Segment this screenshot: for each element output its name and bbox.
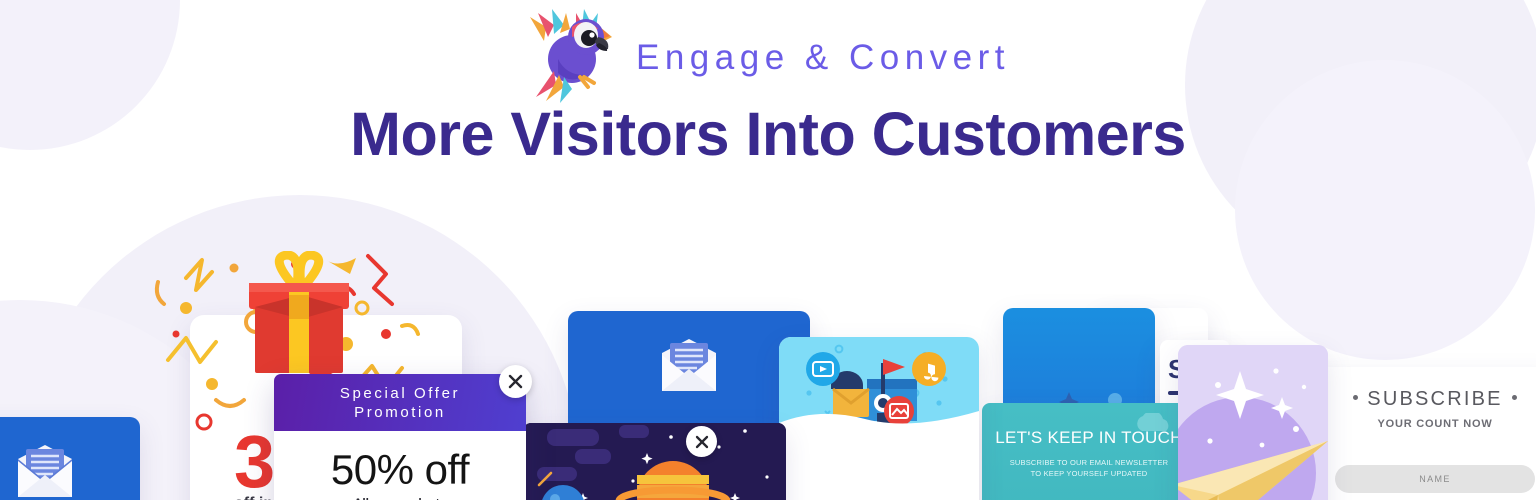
brand-row: Engage & Convert [0, 0, 1536, 110]
popup-card-special-offer[interactable]: Special Offer Promotion 50% off All our … [274, 374, 526, 500]
paper-plane-illustration [1178, 345, 1328, 500]
bullet-dot-left-icon [1353, 395, 1358, 400]
hero-header: Engage & Convert More Visitors Into Cust… [0, 0, 1536, 165]
final-subscribe-title-text: SUBSCRIBE [1367, 388, 1502, 410]
envelope-icon [10, 443, 80, 500]
special-offer-title-line2: Promotion [354, 403, 446, 422]
popup-card-space[interactable] [523, 423, 786, 500]
bullet-dot-right-icon [1512, 395, 1517, 400]
cloud-icon [1132, 413, 1178, 433]
subscribe-card-header [568, 311, 810, 431]
special-offer-header: Special Offer Promotion [274, 374, 526, 431]
parrot-logo-icon [526, 7, 630, 103]
brand-name: Engage & Convert [636, 32, 1010, 78]
final-subscribe-subtitle: YOUR COUNT NOW [1316, 418, 1536, 430]
special-offer-discount: 50% off [274, 446, 526, 494]
page-title: More Visitors Into Customers [0, 104, 1536, 165]
special-offer-body: 50% off All our products [274, 431, 526, 500]
final-subscribe-title: SUBSCRIBE [1316, 388, 1536, 411]
close-x-glyph [695, 435, 709, 449]
gift-discount-label: off in [234, 495, 273, 500]
wave-divider [779, 405, 979, 439]
gift-discount-percent: 3 [234, 419, 272, 500]
keep-in-touch-subtitle: SUBSCRIBE TO OUR EMAIL NEWSLETTER TO KEE… [982, 457, 1196, 479]
hero-banner: Engage & Convert More Visitors Into Cust… [0, 0, 1536, 500]
close-icon[interactable] [499, 365, 532, 398]
special-offer-subtext: All our products [274, 496, 526, 500]
keep-in-touch-sub-line2: TO KEEP YOURSELF UPDATED [982, 468, 1196, 479]
keep-in-touch-sub-line1: SUBSCRIBE TO OUR EMAIL NEWSLETTER [982, 457, 1196, 468]
envelope-icon [654, 337, 724, 395]
popup-card-paper-plane[interactable] [1178, 345, 1328, 500]
popup-card-mailbox[interactable] [779, 337, 979, 500]
popup-card-keep-in-touch[interactable]: LET'S KEEP IN TOUCH SUBSCRIBE TO OUR EMA… [982, 403, 1196, 500]
popup-card-final-subscribe[interactable]: SUBSCRIBE YOUR COUNT NOW NAME [1316, 367, 1536, 500]
close-icon[interactable] [686, 426, 717, 457]
close-x-glyph [508, 374, 523, 389]
popup-card-envelope-left[interactable] [0, 417, 140, 500]
special-offer-title-line1: Special Offer [340, 384, 460, 403]
mailbox-card-header [779, 337, 979, 437]
gift-box-icon [231, 251, 366, 381]
name-input[interactable]: NAME [1335, 465, 1535, 493]
space-illustration [523, 423, 786, 500]
